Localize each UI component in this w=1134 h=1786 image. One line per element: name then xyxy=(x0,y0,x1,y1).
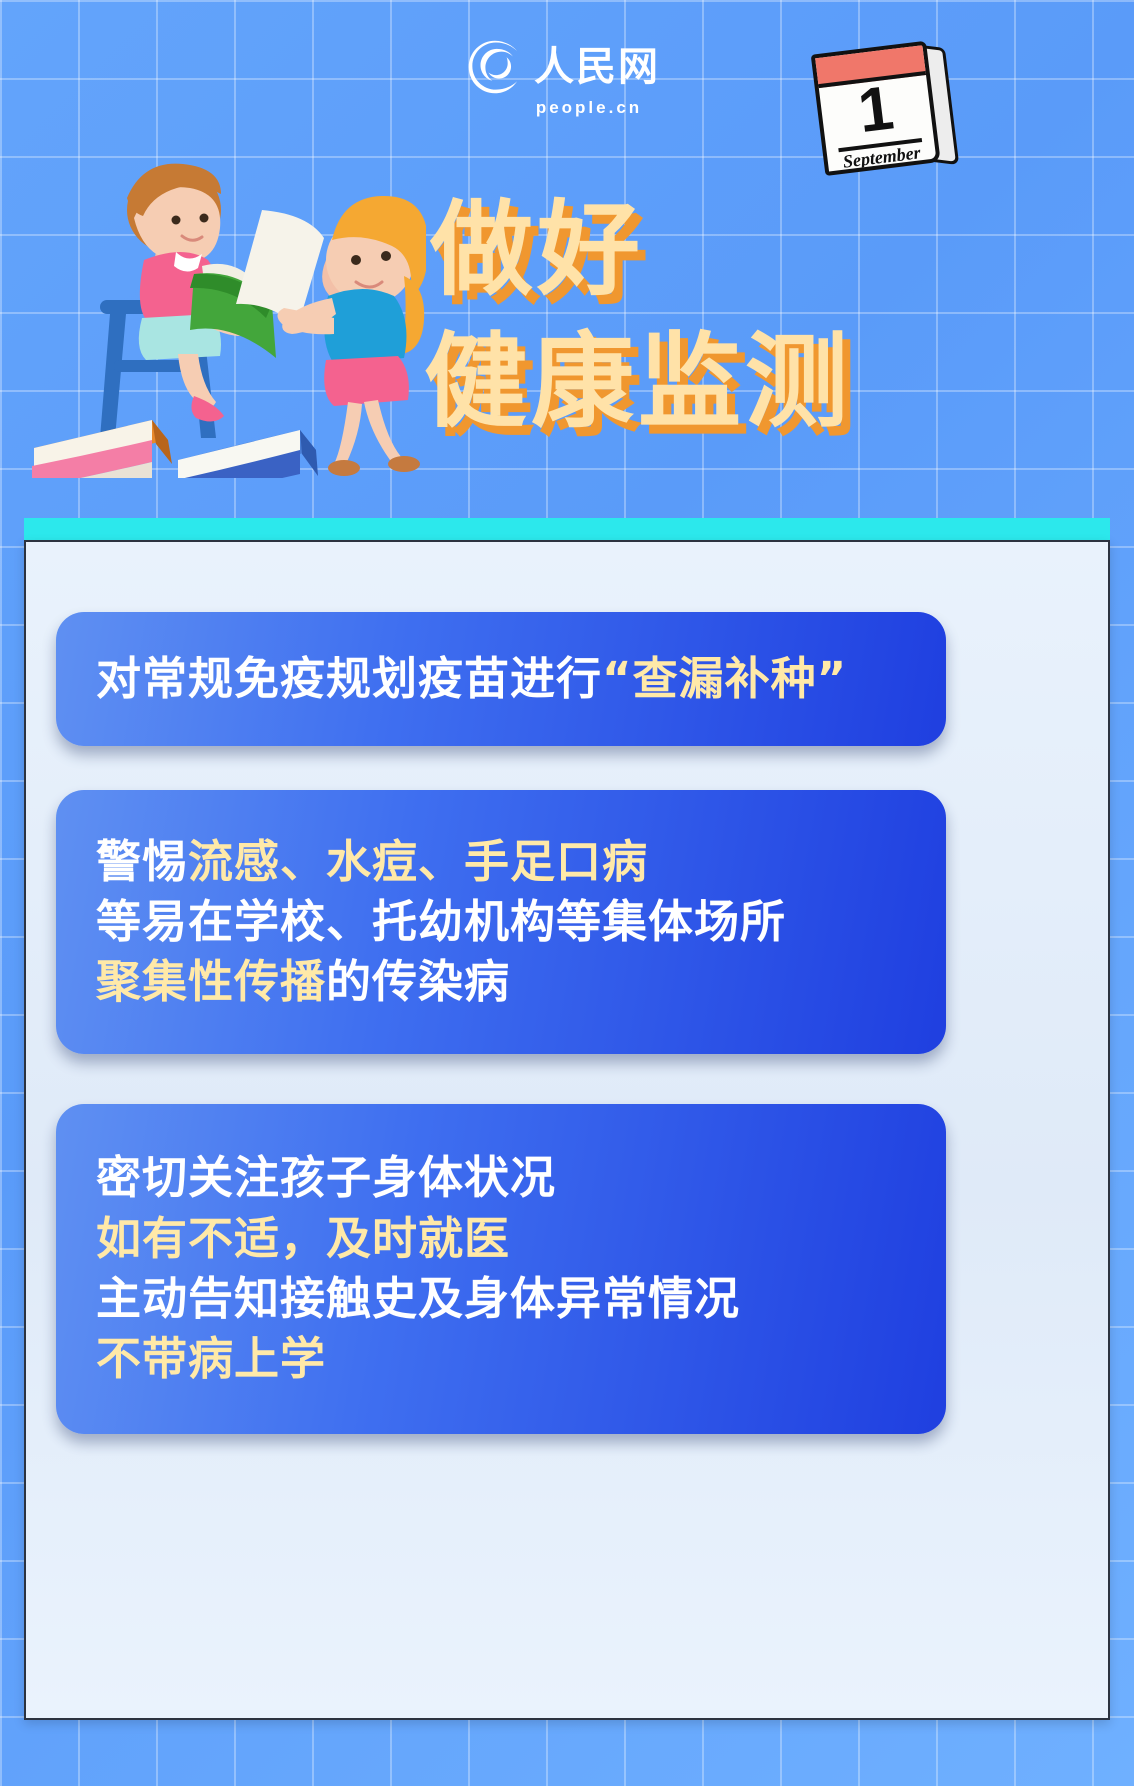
logo-name-cn: 人民网 xyxy=(534,47,660,87)
card-text-highlight: 如有不适，及时就医 xyxy=(96,1212,510,1265)
calendar-body: 1 September xyxy=(811,41,941,176)
logo-row: 人民网 xyxy=(466,38,660,96)
card-child-health[interactable]: 密切关注孩子身体状况 如有不适，及时就医 主动告知接触史及身体异常情况 不带病上… xyxy=(56,1104,946,1434)
page-title: 做好 健康监测 xyxy=(430,185,990,449)
card-text-plain: 密切关注孩子身体状况 xyxy=(96,1151,556,1204)
card-text-plain: 对常规免疫规划疫苗进行 xyxy=(96,652,602,705)
calendar-icon: 1 September xyxy=(804,33,969,186)
panel-top-accent-bar xyxy=(24,518,1110,540)
card-line: 不带病上学 xyxy=(96,1329,906,1389)
card-line: 警惕流感、水痘、手足口病 xyxy=(96,832,906,892)
people-cn-wave-icon xyxy=(466,38,524,96)
logo-name-en: people.cn xyxy=(536,98,642,118)
children-illustration xyxy=(26,148,426,478)
card-line: 聚集性传播的传染病 xyxy=(96,952,906,1012)
card-text-highlight: “查漏补种” xyxy=(602,652,847,705)
page-title-line-1: 做好 xyxy=(430,185,990,317)
card-line: 如有不适，及时就医 xyxy=(96,1209,906,1269)
card-text-plain: 警惕 xyxy=(96,835,188,888)
page-title-line-2: 健康监测 xyxy=(424,317,990,449)
card-text-highlight: 聚集性传播 xyxy=(96,955,326,1008)
people-cn-logo: 人民网 people.cn xyxy=(463,38,663,116)
card-line: 等易在学校、托幼机构等集体场所 xyxy=(96,892,906,952)
card-text-highlight: 不带病上学 xyxy=(96,1332,326,1385)
card-text-plain: 的传染病 xyxy=(326,955,510,1008)
card-line: 主动告知接触史及身体异常情况 xyxy=(96,1269,906,1329)
card-text-plain: 等易在学校、托幼机构等集体场所 xyxy=(96,895,786,948)
card-line: 密切关注孩子身体状况 xyxy=(96,1148,906,1208)
card-infectious-disease[interactable]: 警惕流感、水痘、手足口病 等易在学校、托幼机构等集体场所 聚集性传播的传染病 xyxy=(56,790,946,1054)
poster-root: 人民网 people.cn 1 September 做好 健康监测 xyxy=(0,0,1134,1786)
book-stack-right xyxy=(176,430,318,478)
card-vaccine[interactable]: 对常规免疫规划疫苗进行“查漏补种” xyxy=(56,612,946,746)
card-line: 对常规免疫规划疫苗进行“查漏补种” xyxy=(96,649,906,709)
card-text-highlight: 流感、水痘、手足口病 xyxy=(188,835,648,888)
card-text-plain: 主动告知接触史及身体异常情况 xyxy=(96,1272,740,1325)
